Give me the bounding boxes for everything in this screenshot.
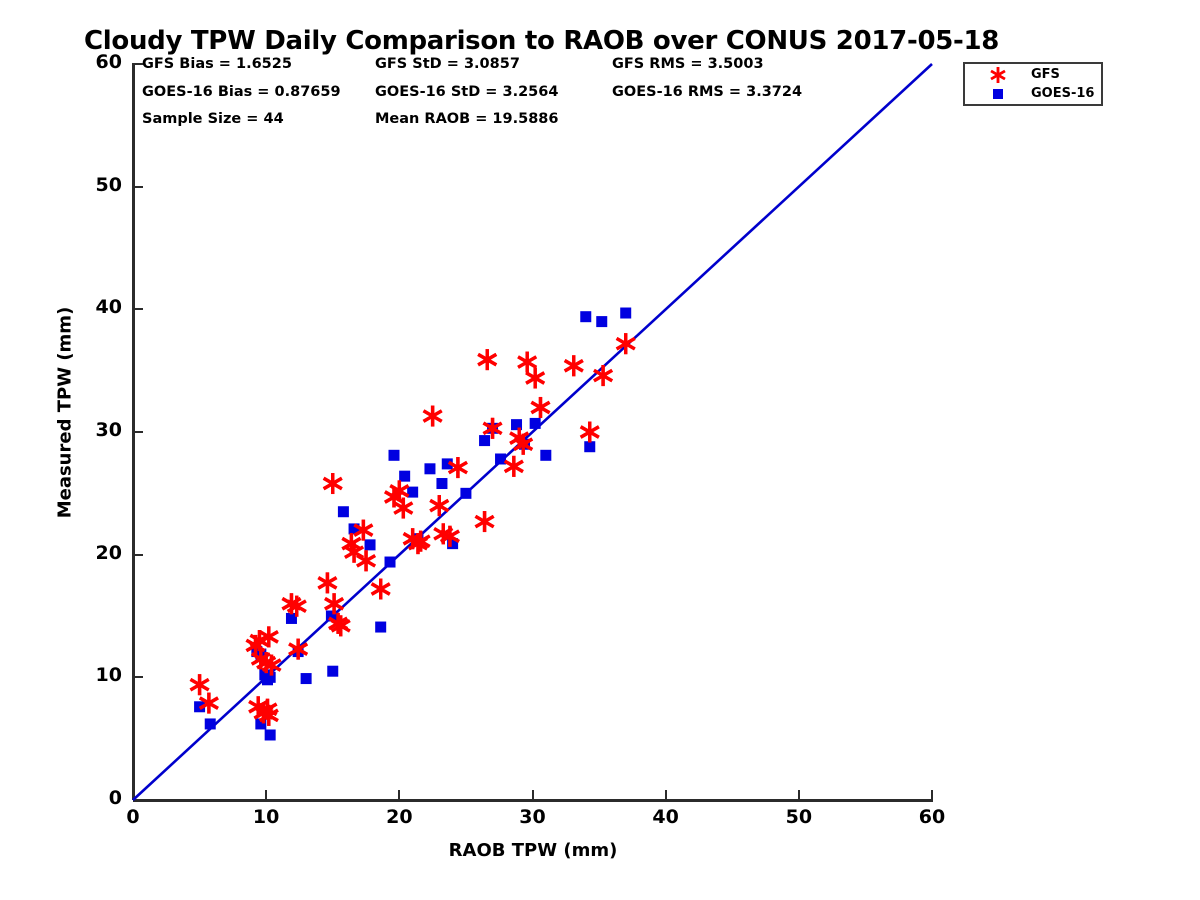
one-to-one-reference-line [133, 64, 932, 800]
legend-label-goes16: GOES-16 [1031, 86, 1094, 101]
legend: GFS GOES-16 [963, 62, 1103, 106]
y-tick-label: 10 [62, 664, 122, 686]
y-tick-label: 50 [62, 174, 122, 196]
goes16-data-point [301, 673, 312, 684]
plot-area [133, 64, 932, 800]
gfs-data-point [372, 579, 390, 600]
gfs-data-point [324, 473, 342, 494]
x-axis-label: RAOB TPW (mm) [333, 840, 733, 861]
goes16-data-point [375, 622, 386, 633]
figure-canvas: Cloudy TPW Daily Comparison to RAOB over… [0, 0, 1200, 900]
goes16-data-point [365, 539, 376, 550]
y-tick-label: 60 [62, 51, 122, 73]
goes16-data-point [584, 441, 595, 452]
x-tick-label: 50 [769, 806, 829, 828]
goes16-data-point [265, 729, 276, 740]
goes16-data-point [620, 308, 631, 319]
goes16-data-point [540, 450, 551, 461]
legend-item-goes16[interactable]: GOES-16 [965, 84, 1101, 104]
x-tick-label: 0 [103, 806, 163, 828]
gfs-data-point [318, 572, 336, 593]
goes16-data-point [399, 471, 410, 482]
page-title: Cloudy TPW Daily Comparison to RAOB over… [84, 26, 1004, 56]
gfs-data-point [505, 456, 523, 477]
scatter-plot-svg [133, 64, 932, 800]
x-tick-label: 40 [636, 806, 696, 828]
gfs-data-point [260, 626, 278, 647]
goes16-data-point [407, 487, 418, 498]
gfs-data-point [565, 355, 583, 376]
goes16-data-point [596, 316, 607, 327]
goes16-data-point [385, 557, 396, 568]
y-tick-label: 20 [62, 542, 122, 564]
goes16-data-point [338, 506, 349, 517]
gfs-data-point [478, 349, 496, 370]
goes16-data-point [580, 311, 591, 322]
x-tick-label: 10 [236, 806, 296, 828]
gfs-data-point [424, 406, 442, 427]
gfs-data-point [594, 365, 612, 386]
gfs-data-point [581, 422, 599, 443]
x-tick-label: 60 [902, 806, 962, 828]
goes16-data-point [436, 478, 447, 489]
x-tick-label: 30 [503, 806, 563, 828]
y-tick-label: 0 [62, 787, 122, 809]
goes16-data-point [424, 463, 435, 474]
goes16-data-point [205, 718, 216, 729]
legend-label-gfs: GFS [1031, 67, 1060, 82]
goes16-data-point [479, 435, 490, 446]
gfs-data-point [357, 550, 375, 571]
goes16-data-point [993, 89, 1003, 99]
goes16-data-point [530, 418, 541, 429]
goes16-data-point [460, 488, 471, 499]
goes16-data-point [327, 666, 338, 677]
legend-item-gfs[interactable]: GFS [965, 65, 1101, 85]
gfs-data-point [475, 511, 493, 532]
y-axis-label: Measured TPW (mm) [55, 283, 76, 543]
x-tick-label: 20 [369, 806, 429, 828]
asterisk-marker-icon [987, 65, 1009, 85]
gfs-data-point [531, 397, 549, 418]
goes16-data-point [389, 450, 400, 461]
square-marker-icon [987, 84, 1009, 104]
gfs-data-point [190, 674, 208, 695]
gfs-data-point [394, 498, 412, 519]
